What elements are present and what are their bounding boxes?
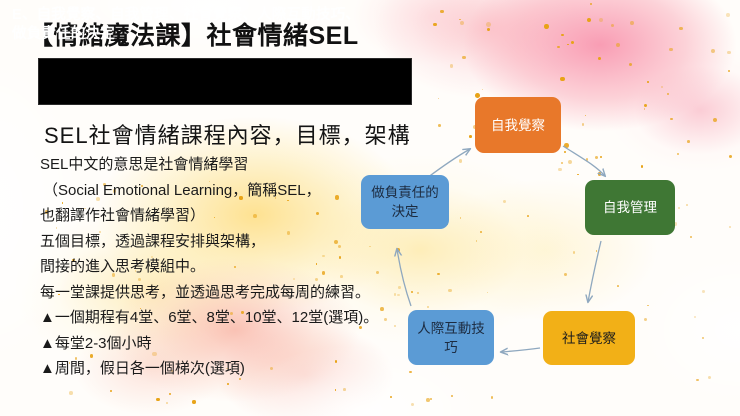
- arrow-self-management-to-social-awareness: [588, 241, 601, 302]
- section-heading: SEL社會情緒課程內容，目標，架構: [44, 118, 411, 150]
- node-social-awareness[interactable]: 社會覺察: [543, 311, 635, 365]
- slide-canvas: 【情緒魔法課】社會情緒SEL E、自我覺察、自我管理、社會覺察、人際互動技巧、做…: [0, 0, 740, 416]
- body-line: 每一堂課提供思考，並透過思考完成每周的練習。: [40, 280, 430, 306]
- body-line: SEL中文的意思是社會情緒學習: [40, 152, 430, 178]
- body-line: ▲一個期程有4堂、6堂、8堂、10堂、12堂(選項)。: [40, 305, 430, 331]
- node-self-management[interactable]: 自我管理: [585, 180, 675, 235]
- node-self-awareness[interactable]: 自我覺察: [475, 97, 561, 153]
- body-line: ▲周間，假日各一個梯次(選項): [40, 356, 430, 382]
- node-responsible-decision[interactable]: 做負責任的決定: [361, 175, 449, 229]
- highlight-banner-text: E、自我覺察、自我管理、社會覺察、人際互動技巧、做負責任的決定: [12, 6, 364, 44]
- body-line: ▲每堂2-3個小時: [40, 331, 430, 357]
- body-line: 五個目標，透過課程安排與架構，: [40, 229, 430, 255]
- node-relationship-skills[interactable]: 人際互動技巧: [408, 310, 494, 365]
- highlight-banner: [38, 58, 412, 105]
- body-line: 間接的進入思考模組中。: [40, 254, 430, 280]
- arrow-social-awareness-to-relationship: [501, 348, 540, 352]
- arrow-self-awareness-to-self-management: [563, 146, 605, 176]
- arrow-decision-to-self-awareness: [427, 149, 470, 178]
